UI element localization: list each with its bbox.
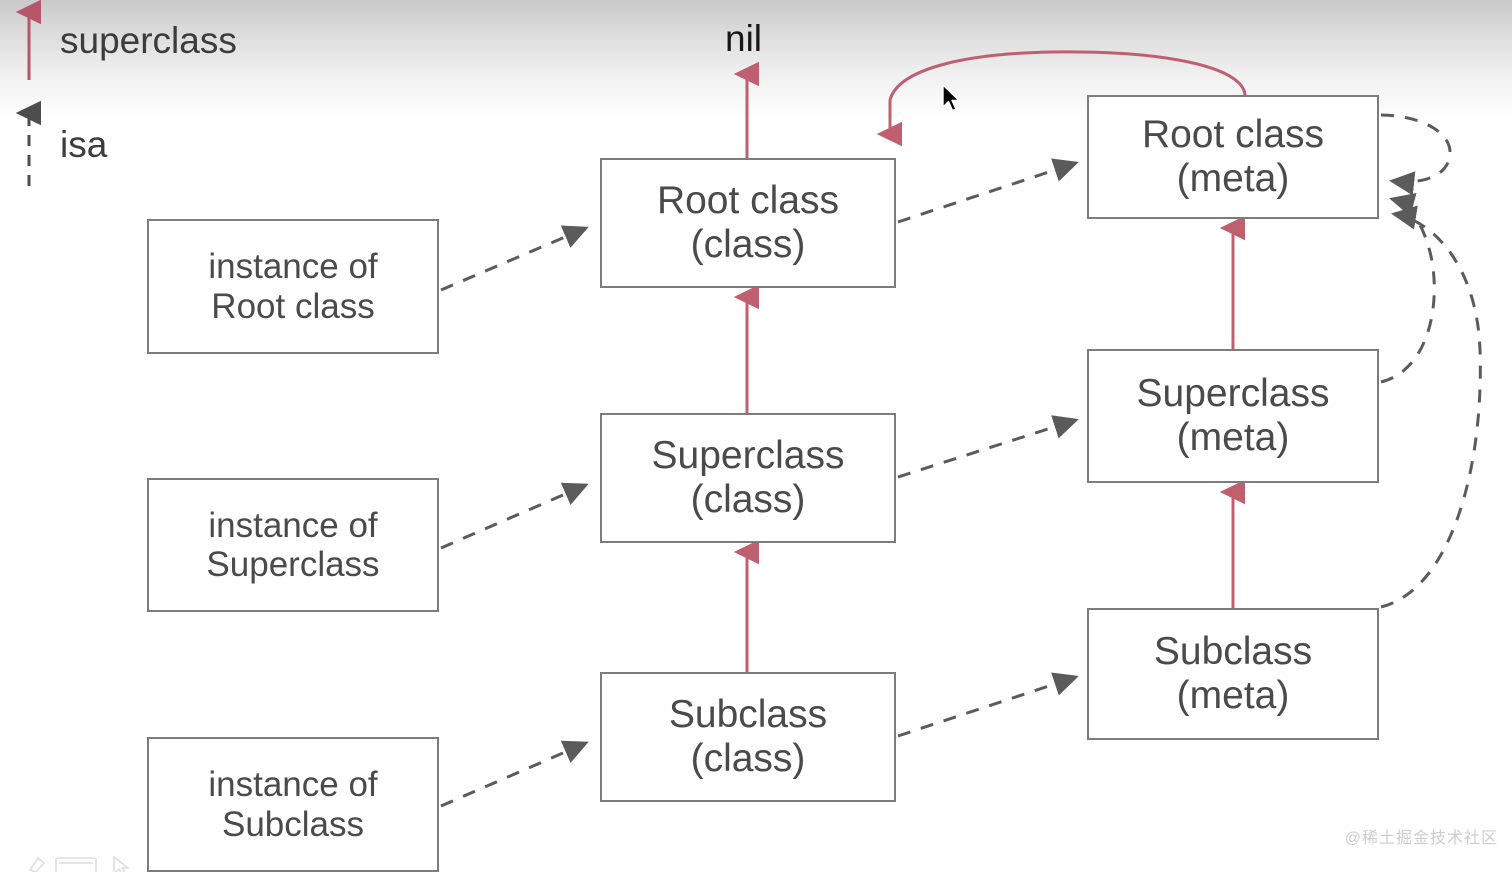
node-subclass-meta[interactable]: Subclass (meta) [1087, 608, 1379, 740]
node-line-2: Subclass [222, 805, 364, 844]
node-line-2: (meta) [1177, 674, 1290, 718]
edge-isa-rootmeta-self-loop [1381, 115, 1450, 182]
node-root-class[interactable]: Root class (class) [600, 158, 896, 288]
node-instance-of-superclass[interactable]: instance of Superclass [147, 478, 439, 612]
node-line-2: Root class [211, 287, 374, 326]
node-line-1: instance of [208, 506, 377, 545]
node-line-1: Superclass [652, 434, 845, 478]
edge-isa-superclass-to-supermeta [898, 420, 1076, 477]
video-player-controls[interactable] [28, 850, 168, 872]
node-root-class-meta[interactable]: Root class (meta) [1087, 95, 1379, 219]
node-line-2: (class) [691, 223, 806, 267]
eraser-icon[interactable] [56, 858, 96, 872]
edge-isa-supermeta-to-rootmeta [1381, 199, 1434, 382]
edge-isa-submeta-to-rootmeta [1381, 214, 1480, 607]
diagram-canvas: superclass isa nil instance of Root clas… [0, 0, 1512, 872]
node-line-1: Subclass [669, 693, 827, 737]
mouse-cursor [941, 84, 963, 114]
edge-isa-instsub-to-subclass [441, 743, 586, 806]
node-line-2: (class) [691, 478, 806, 522]
legend-label-isa: isa [60, 124, 107, 166]
node-line-2: Superclass [206, 545, 379, 584]
node-line-1: Subclass [1154, 630, 1312, 674]
node-line-1: Superclass [1137, 372, 1330, 416]
pen-icon[interactable] [30, 858, 44, 872]
edge-isa-instsuper-to-superclass [441, 485, 586, 548]
node-instance-of-subclass[interactable]: instance of Subclass [147, 737, 439, 872]
node-superclass[interactable]: Superclass (class) [600, 413, 896, 543]
edge-isa-instroot-to-rootclass [441, 228, 586, 290]
edge-isa-subclass-to-submeta [898, 677, 1076, 736]
node-line-2: (class) [691, 737, 806, 781]
cursor-tool-icon[interactable] [114, 857, 128, 872]
node-line-1: Root class [657, 179, 839, 223]
node-line-1: instance of [208, 765, 377, 804]
node-subclass[interactable]: Subclass (class) [600, 672, 896, 802]
node-line-1: instance of [208, 247, 377, 286]
edge-isa-rootclass-to-rootmeta [898, 163, 1076, 222]
watermark-label: @稀土掘金技术社区 [1345, 824, 1498, 848]
node-superclass-meta[interactable]: Superclass (meta) [1087, 349, 1379, 483]
node-line-2: (meta) [1177, 416, 1290, 460]
node-line-2: (meta) [1177, 157, 1290, 201]
node-line-1: Root class [1142, 113, 1324, 157]
node-instance-of-root-class[interactable]: instance of Root class [147, 219, 439, 354]
nil-label: nil [725, 18, 762, 60]
legend-label-superclass: superclass [60, 20, 237, 62]
